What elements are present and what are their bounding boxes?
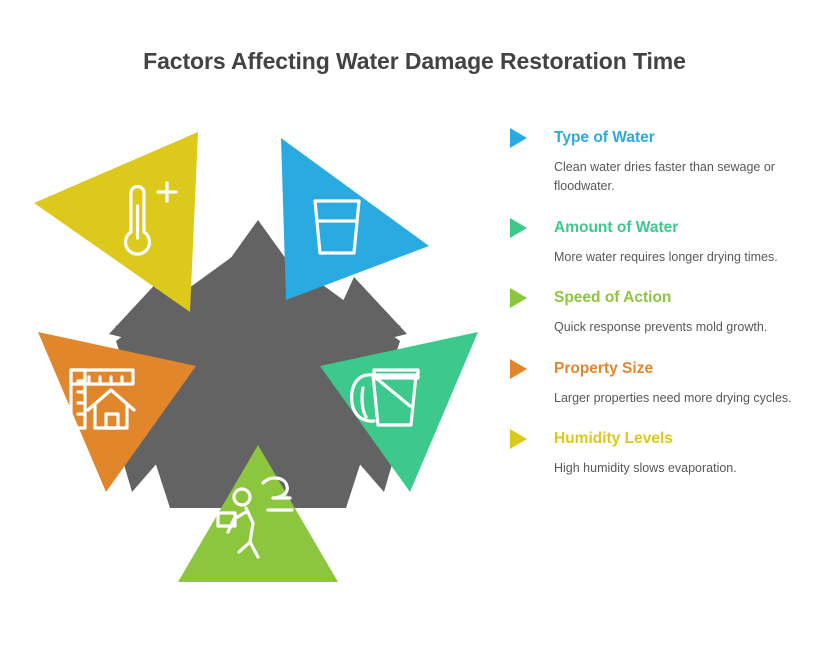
triangle-right-icon — [510, 288, 527, 308]
infographic-page: Factors Affecting Water Damage Restorati… — [0, 0, 829, 648]
triangle-right-icon — [510, 429, 527, 449]
legend-desc-amount-of-water: More water requires longer drying times. — [554, 248, 806, 267]
wedge-type-of-water[interactable] — [281, 138, 429, 300]
triangle-right-icon — [510, 359, 527, 379]
legend-head-humidity-levels: Humidity Levels — [510, 428, 810, 450]
wedge-type-of-water-shape[interactable] — [281, 138, 429, 300]
legend-item-property-size[interactable]: Property Size Larger properties need mor… — [510, 358, 810, 408]
wedge-humidity-levels[interactable] — [34, 132, 198, 312]
star-wedge-diagram — [18, 120, 498, 590]
wedge-humidity-levels-shape[interactable] — [34, 132, 198, 312]
legend-head-speed-of-action: Speed of Action — [510, 287, 810, 309]
legend-desc-humidity-levels: High humidity slows evaporation. — [554, 459, 806, 478]
legend-desc-speed-of-action: Quick response prevents mold growth. — [554, 318, 806, 337]
legend-desc-type-of-water: Clean water dries faster than sewage or … — [554, 158, 806, 197]
legend-title-property-size: Property Size — [554, 361, 653, 377]
legend-desc-property-size: Larger properties need more drying cycle… — [554, 389, 806, 408]
legend-head-amount-of-water: Amount of Water — [510, 217, 810, 239]
legend-head-property-size: Property Size — [510, 358, 810, 380]
legend-list: Type of Water Clean water dries faster t… — [510, 127, 810, 478]
triangle-right-icon — [510, 128, 527, 148]
legend-title-amount-of-water: Amount of Water — [554, 220, 678, 236]
legend-head-type-of-water: Type of Water — [510, 127, 810, 149]
triangle-right-icon — [510, 218, 527, 238]
legend-item-speed-of-action[interactable]: Speed of Action Quick response prevents … — [510, 287, 810, 337]
legend-title-speed-of-action: Speed of Action — [554, 290, 671, 306]
legend-item-amount-of-water[interactable]: Amount of Water More water requires long… — [510, 217, 810, 267]
legend-title-type-of-water: Type of Water — [554, 130, 655, 146]
legend-item-humidity-levels[interactable]: Humidity Levels High humidity slows evap… — [510, 428, 810, 478]
page-title: Factors Affecting Water Damage Restorati… — [0, 48, 829, 75]
legend-item-type-of-water[interactable]: Type of Water Clean water dries faster t… — [510, 127, 810, 197]
legend-title-humidity-levels: Humidity Levels — [554, 431, 673, 447]
